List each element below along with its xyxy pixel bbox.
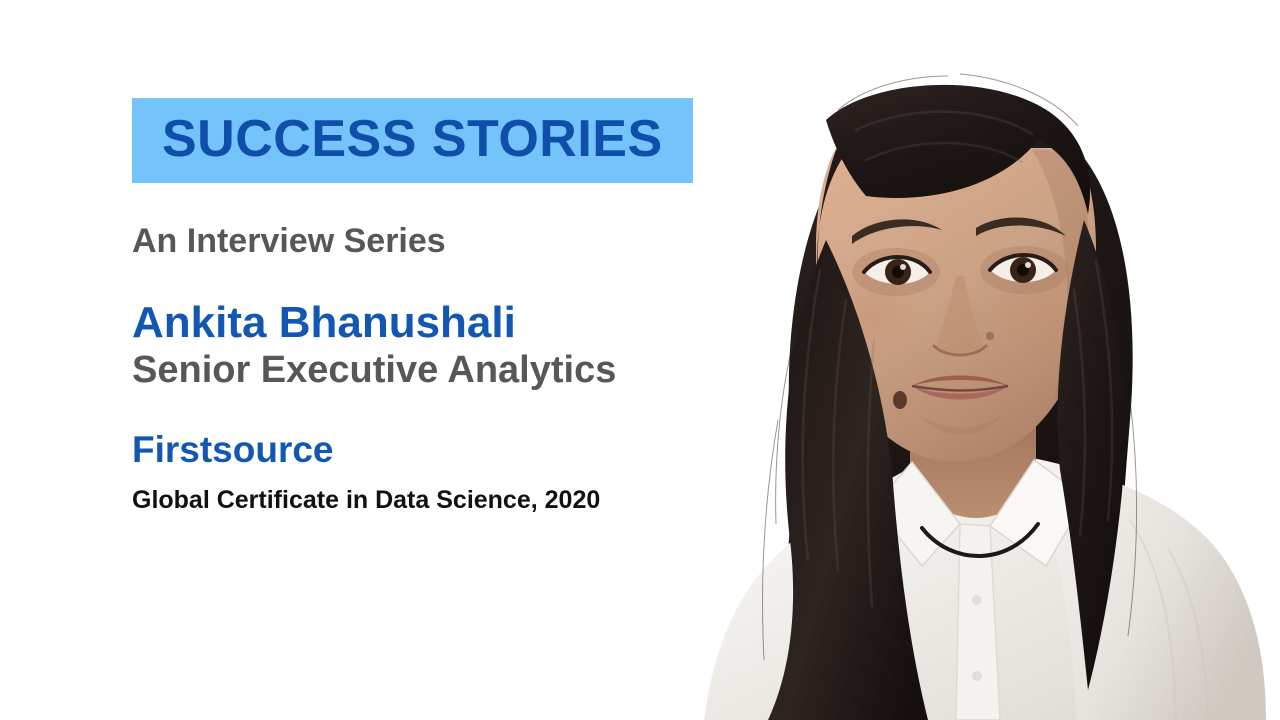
success-stories-banner: SUCCESS STORIES: [132, 98, 693, 183]
company-name: Firstsource: [132, 429, 752, 470]
series-subtitle: An Interview Series: [132, 223, 752, 260]
beauty-mark: [893, 391, 907, 409]
credential-text: Global Certificate in Data Science, 2020: [132, 486, 752, 515]
banner-title: SUCCESS STORIES: [162, 112, 663, 167]
portrait-illustration: [660, 0, 1280, 720]
person-name: Ankita Bhanushali: [132, 298, 752, 347]
person-block: Ankita Bhanushali Senior Executive Analy…: [132, 298, 752, 393]
success-story-slide: SUCCESS STORIES An Interview Series Anki…: [0, 0, 1280, 720]
person-role: Senior Executive Analytics: [132, 349, 752, 393]
text-column: SUCCESS STORIES An Interview Series Anki…: [132, 98, 752, 515]
portrait-photo: [660, 0, 1280, 720]
nose-stud: [986, 332, 994, 340]
company-block: Firstsource Global Certificate in Data S…: [132, 429, 752, 515]
